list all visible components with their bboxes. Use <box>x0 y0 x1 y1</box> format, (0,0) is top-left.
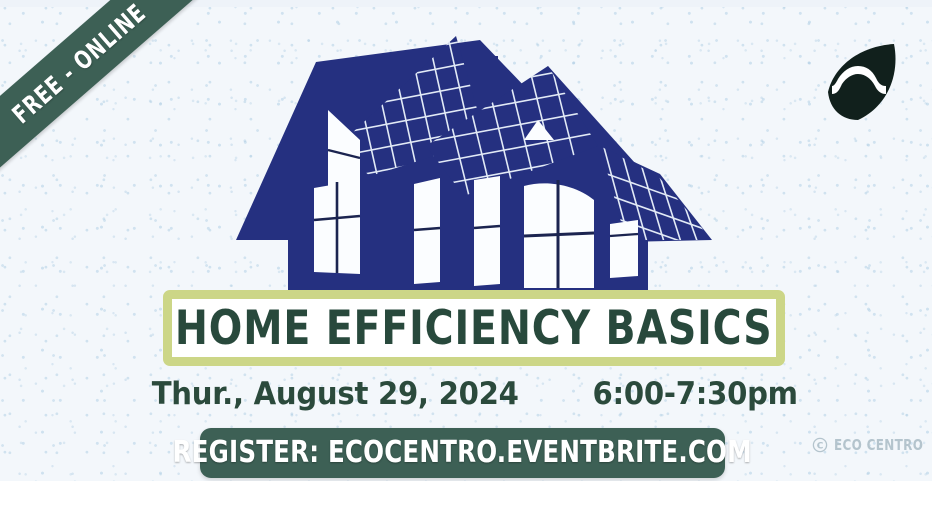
svg-text:C: C <box>817 441 824 451</box>
page-title: HOME EFFICIENCY BASICS <box>175 305 773 352</box>
window-large-arched <box>524 180 594 288</box>
window-tall-narrow-left <box>414 178 440 284</box>
credit-line: C ECO CENTRO <box>812 437 932 453</box>
eco-centro-leaf-logo-icon <box>820 40 908 128</box>
flyer-artboard: FREE - ONLINE HOME EFFICIENCY BASICS Thu… <box>0 0 932 481</box>
window-tall-narrow-right <box>474 176 500 286</box>
register-label: REGISTER: ECOCENTRO.EVENTBRITE.COM <box>173 438 752 468</box>
window-right-side <box>610 220 638 278</box>
event-date: Thur., August 29, 2024 <box>152 379 519 410</box>
copyright-icon: C <box>812 437 828 453</box>
event-time: 6:00-7:30pm <box>592 379 797 410</box>
title-plate: HOME EFFICIENCY BASICS <box>163 290 785 366</box>
date-time-row: Thur., August 29, 2024 6:00-7:30pm <box>140 374 810 414</box>
house-illustration <box>228 28 712 296</box>
bottom-letterbox <box>0 481 932 517</box>
top-edge-band <box>0 0 932 7</box>
window-four-pane-left <box>314 180 360 274</box>
chimney <box>475 56 498 100</box>
register-banner[interactable]: REGISTER: ECOCENTRO.EVENTBRITE.COM <box>200 428 725 478</box>
event-flyer: FREE - ONLINE HOME EFFICIENCY BASICS Thu… <box>0 0 932 517</box>
credit-label: ECO CENTRO <box>834 438 923 453</box>
